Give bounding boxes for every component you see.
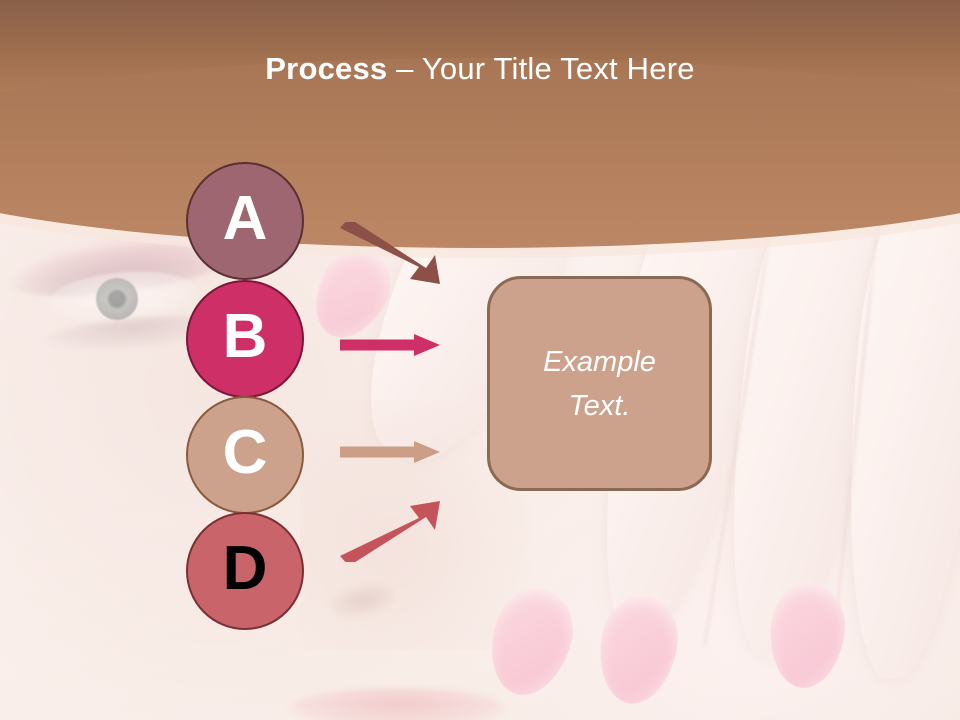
step-circle-a[interactable]: A	[186, 162, 304, 280]
step-arrow-b	[340, 325, 440, 365]
result-line-2: Text.	[543, 384, 656, 428]
step-arrow-c	[340, 433, 440, 471]
result-textbox[interactable]: Example Text.	[487, 276, 712, 491]
arrow-icon	[340, 325, 440, 365]
title-light: Your Title Text Here	[422, 51, 695, 86]
step-circle-label: C	[223, 422, 268, 484]
step-circle-label: A	[223, 188, 268, 250]
title-strong: Process	[265, 51, 387, 86]
arrow-shape	[340, 501, 440, 562]
arrow-shape	[340, 441, 440, 463]
title-separator: –	[387, 51, 422, 86]
step-arrow-d	[340, 500, 440, 562]
step-circle-label: B	[223, 306, 268, 368]
page-title: Process – Your Title Text Here	[0, 50, 960, 88]
step-circle-b[interactable]: B	[186, 280, 304, 398]
step-circle-label: D	[223, 538, 268, 600]
step-circle-d[interactable]: D	[186, 512, 304, 630]
result-line-1: Example	[543, 340, 656, 384]
step-circle-c[interactable]: C	[186, 396, 304, 514]
arrow-icon	[340, 500, 440, 562]
arrow-shape	[340, 334, 440, 356]
step-arrow-a	[340, 222, 440, 284]
arrow-shape	[340, 222, 440, 284]
slide: Process – Your Title Text Here ABCD Exam…	[0, 0, 960, 720]
result-textbox-content: Example Text.	[543, 340, 656, 428]
arrow-icon	[340, 222, 440, 284]
arrow-icon	[340, 433, 440, 471]
